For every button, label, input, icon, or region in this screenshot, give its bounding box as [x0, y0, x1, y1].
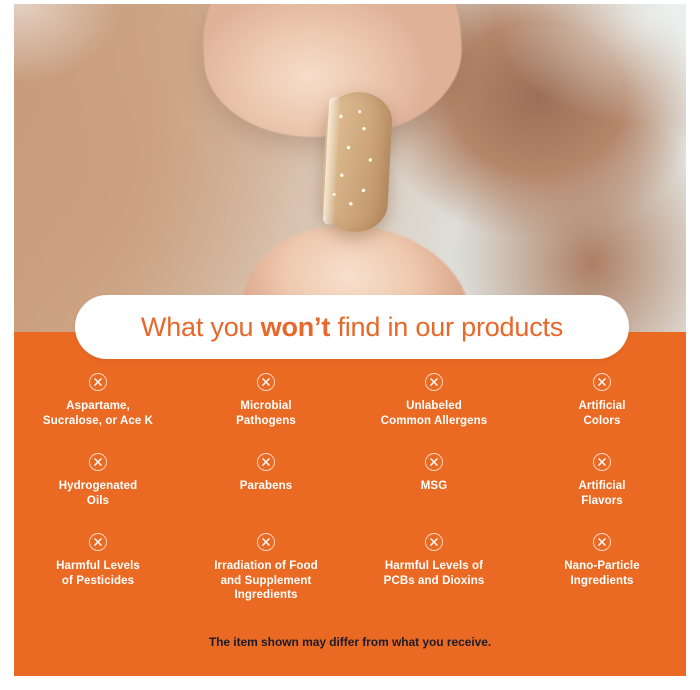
grid-item: Parabens — [182, 452, 350, 518]
grid-item-label: Nano-Particle Ingredients — [564, 559, 639, 588]
grid-item-label: MSG — [421, 479, 448, 494]
circle-x-icon — [88, 452, 108, 472]
page-title-emphasis: won’t — [261, 312, 330, 342]
grid-item: Artificial Colors — [518, 372, 686, 438]
excluded-ingredients-grid: Aspartame, Sucralose, or Ace K Microbial… — [14, 372, 686, 598]
hand-holding-tablet-photo — [14, 4, 686, 336]
circle-x-icon — [424, 452, 444, 472]
circle-x-icon — [424, 372, 444, 392]
headline-pill: What you won’t find in our products — [75, 295, 629, 359]
grid-item: Harmful Levels of PCBs and Dioxins — [350, 532, 518, 598]
grid-item-label: Irradiation of Food and Supplement Ingre… — [214, 559, 317, 603]
grid-item-label: Microbial Pathogens — [236, 399, 296, 428]
page-title-suffix: find in our products — [330, 312, 563, 342]
page-title-prefix: What you — [141, 312, 261, 342]
circle-x-icon — [256, 372, 276, 392]
circle-x-icon — [256, 452, 276, 472]
circle-x-icon — [256, 532, 276, 552]
grid-item: MSG — [350, 452, 518, 518]
page-title: What you won’t find in our products — [141, 312, 563, 343]
grid-item-label: Artificial Flavors — [578, 479, 625, 508]
grid-item: Unlabeled Common Allergens — [350, 372, 518, 438]
circle-x-icon — [592, 532, 612, 552]
grid-item-label: Aspartame, Sucralose, or Ace K — [43, 399, 153, 428]
product-claims-banner: What you won’t find in our products Aspa… — [0, 0, 700, 690]
grid-item-label: Unlabeled Common Allergens — [381, 399, 488, 428]
grid-item-label: Artificial Colors — [578, 399, 625, 428]
grid-item: Artificial Flavors — [518, 452, 686, 518]
grid-item-label: Harmful Levels of PCBs and Dioxins — [384, 559, 485, 588]
grid-item-label: Harmful Levels of Pesticides — [56, 559, 140, 588]
grid-item: Harmful Levels of Pesticides — [14, 532, 182, 598]
circle-x-icon — [88, 532, 108, 552]
grid-item: Hydrogenated Oils — [14, 452, 182, 518]
circle-x-icon — [592, 372, 612, 392]
photo-highlight-top-right — [496, 4, 686, 124]
circle-x-icon — [592, 452, 612, 472]
grid-item-label: Hydrogenated Oils — [59, 479, 138, 508]
supplement-tablet — [320, 90, 393, 233]
grid-item: Irradiation of Food and Supplement Ingre… — [182, 532, 350, 598]
tablet-highlight — [323, 96, 342, 224]
grid-item-label: Parabens — [240, 479, 293, 494]
photo-highlight-top-left — [14, 4, 124, 84]
circle-x-icon — [424, 532, 444, 552]
disclaimer-text: The item shown may differ from what you … — [14, 635, 686, 649]
circle-x-icon — [88, 372, 108, 392]
grid-item: Nano-Particle Ingredients — [518, 532, 686, 598]
grid-item: Microbial Pathogens — [182, 372, 350, 438]
grid-item: Aspartame, Sucralose, or Ace K — [14, 372, 182, 438]
